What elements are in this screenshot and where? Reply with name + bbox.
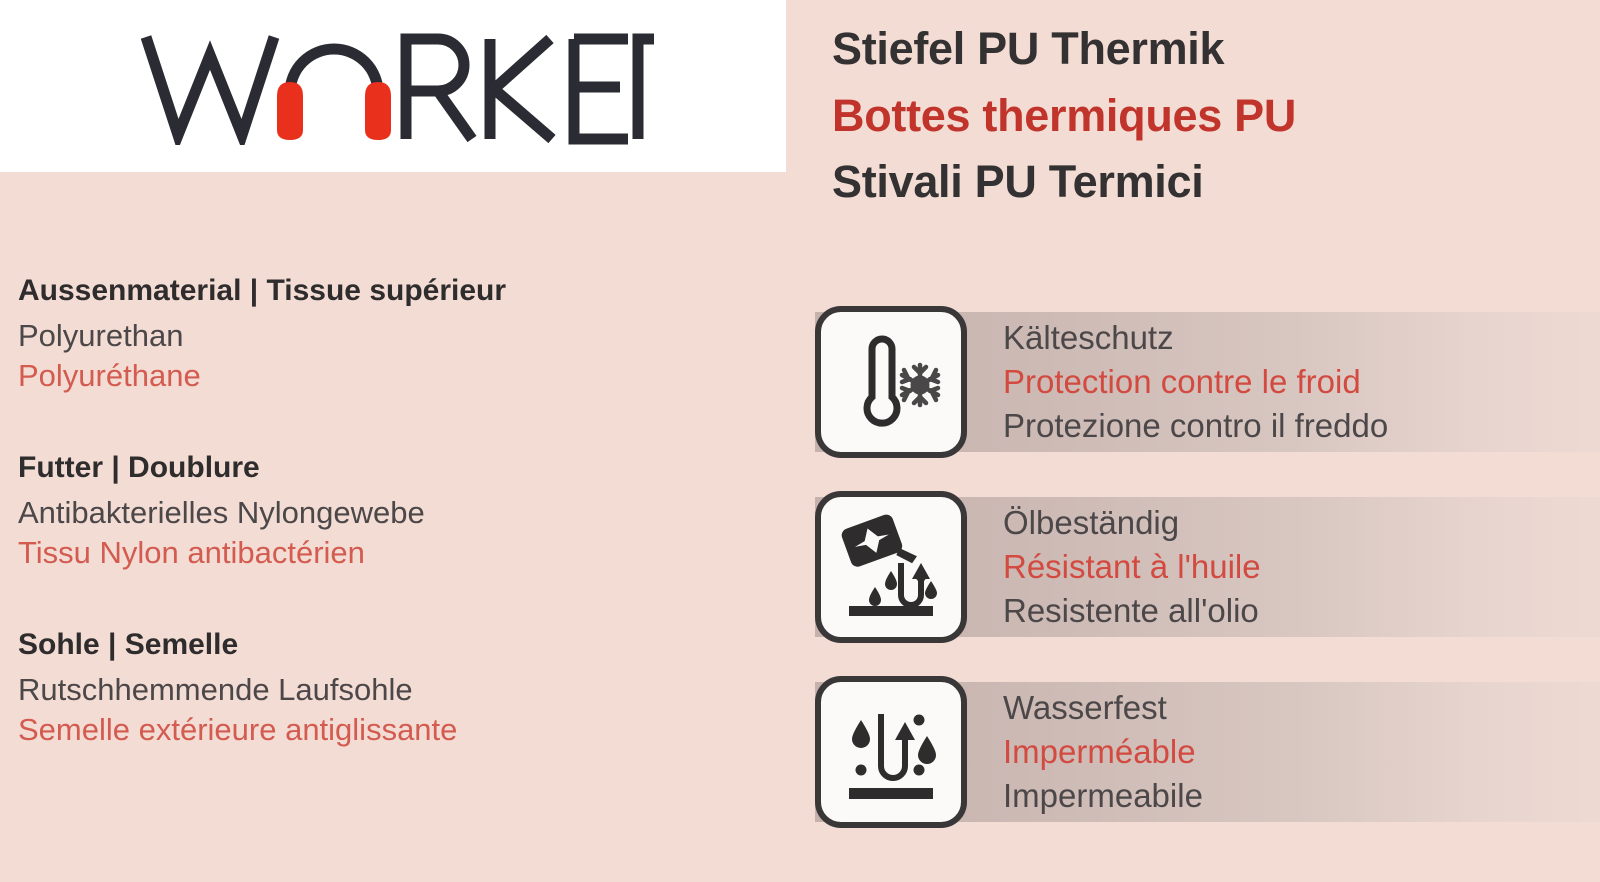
product-title-de: Stiefel PU Thermik [832, 16, 1572, 83]
feature-icon-tile [815, 306, 967, 458]
feature-label-de: Kälteschutz [1003, 316, 1388, 360]
feature-label-it: Resistente all'olio [1003, 589, 1261, 633]
feature-label-fr: Résistant à l'huile [1003, 545, 1261, 589]
feature-icon-tile [815, 676, 967, 828]
spec-value-de: Antibakterielles Nylongewebe [18, 493, 738, 533]
feature-text: Kälteschutz Protection contre le froid P… [1003, 316, 1388, 449]
spec-value-de: Polyurethan [18, 316, 738, 356]
feature-label-fr: Protection contre le froid [1003, 360, 1388, 404]
brand-logo-panel [0, 0, 786, 172]
feature-label-de: Ölbeständig [1003, 501, 1261, 545]
spec-heading: Futter | Doublure [18, 449, 738, 487]
feature-row-cold-protection: Kälteschutz Protection contre le froid P… [815, 306, 1600, 458]
worker-logo [138, 27, 658, 145]
feature-label-it: Impermeabile [1003, 774, 1203, 818]
spec-value-de: Rutschhemmende Laufsohle [18, 670, 738, 710]
spec-block-sole: Sohle | Semelle Rutschhemmende Laufsohle… [18, 626, 738, 750]
spec-block-outer-material: Aussenmaterial | Tissue supérieur Polyur… [18, 272, 738, 396]
spec-value-fr: Semelle extérieure antiglissante [18, 710, 738, 750]
feature-row-waterproof: Wasserfest Imperméable Impermeabile [815, 676, 1600, 828]
spec-value-fr: Polyuréthane [18, 356, 738, 396]
feature-list: Kälteschutz Protection contre le froid P… [815, 306, 1600, 828]
thermometer-snowflake-icon [836, 327, 946, 437]
spec-block-lining: Futter | Doublure Antibakterielles Nylon… [18, 449, 738, 573]
feature-label-fr: Imperméable [1003, 730, 1203, 774]
material-specifications: Aussenmaterial | Tissue supérieur Polyur… [18, 272, 738, 750]
feature-icon-tile [815, 491, 967, 643]
product-title: Stiefel PU Thermik Bottes thermiques PU … [832, 16, 1572, 216]
feature-label-de: Wasserfest [1003, 686, 1203, 730]
worker-wordmark-icon [138, 27, 658, 145]
feature-text: Ölbeständig Résistant à l'huile Resisten… [1003, 501, 1261, 634]
feature-row-oil-resistant: Ölbeständig Résistant à l'huile Resisten… [815, 491, 1600, 643]
product-title-it: Stivali PU Termici [832, 149, 1572, 216]
product-info-card: Stiefel PU Thermik Bottes thermiques PU … [0, 0, 1600, 882]
spec-value-fr: Tissu Nylon antibactérien [18, 533, 738, 573]
feature-text: Wasserfest Imperméable Impermeabile [1003, 686, 1203, 819]
oil-can-repellent-icon [835, 511, 947, 623]
spec-heading: Sohle | Semelle [18, 626, 738, 664]
water-repellent-icon [835, 696, 947, 808]
product-title-fr: Bottes thermiques PU [832, 83, 1572, 150]
spec-heading: Aussenmaterial | Tissue supérieur [18, 272, 738, 310]
feature-label-it: Protezione contro il freddo [1003, 404, 1388, 448]
